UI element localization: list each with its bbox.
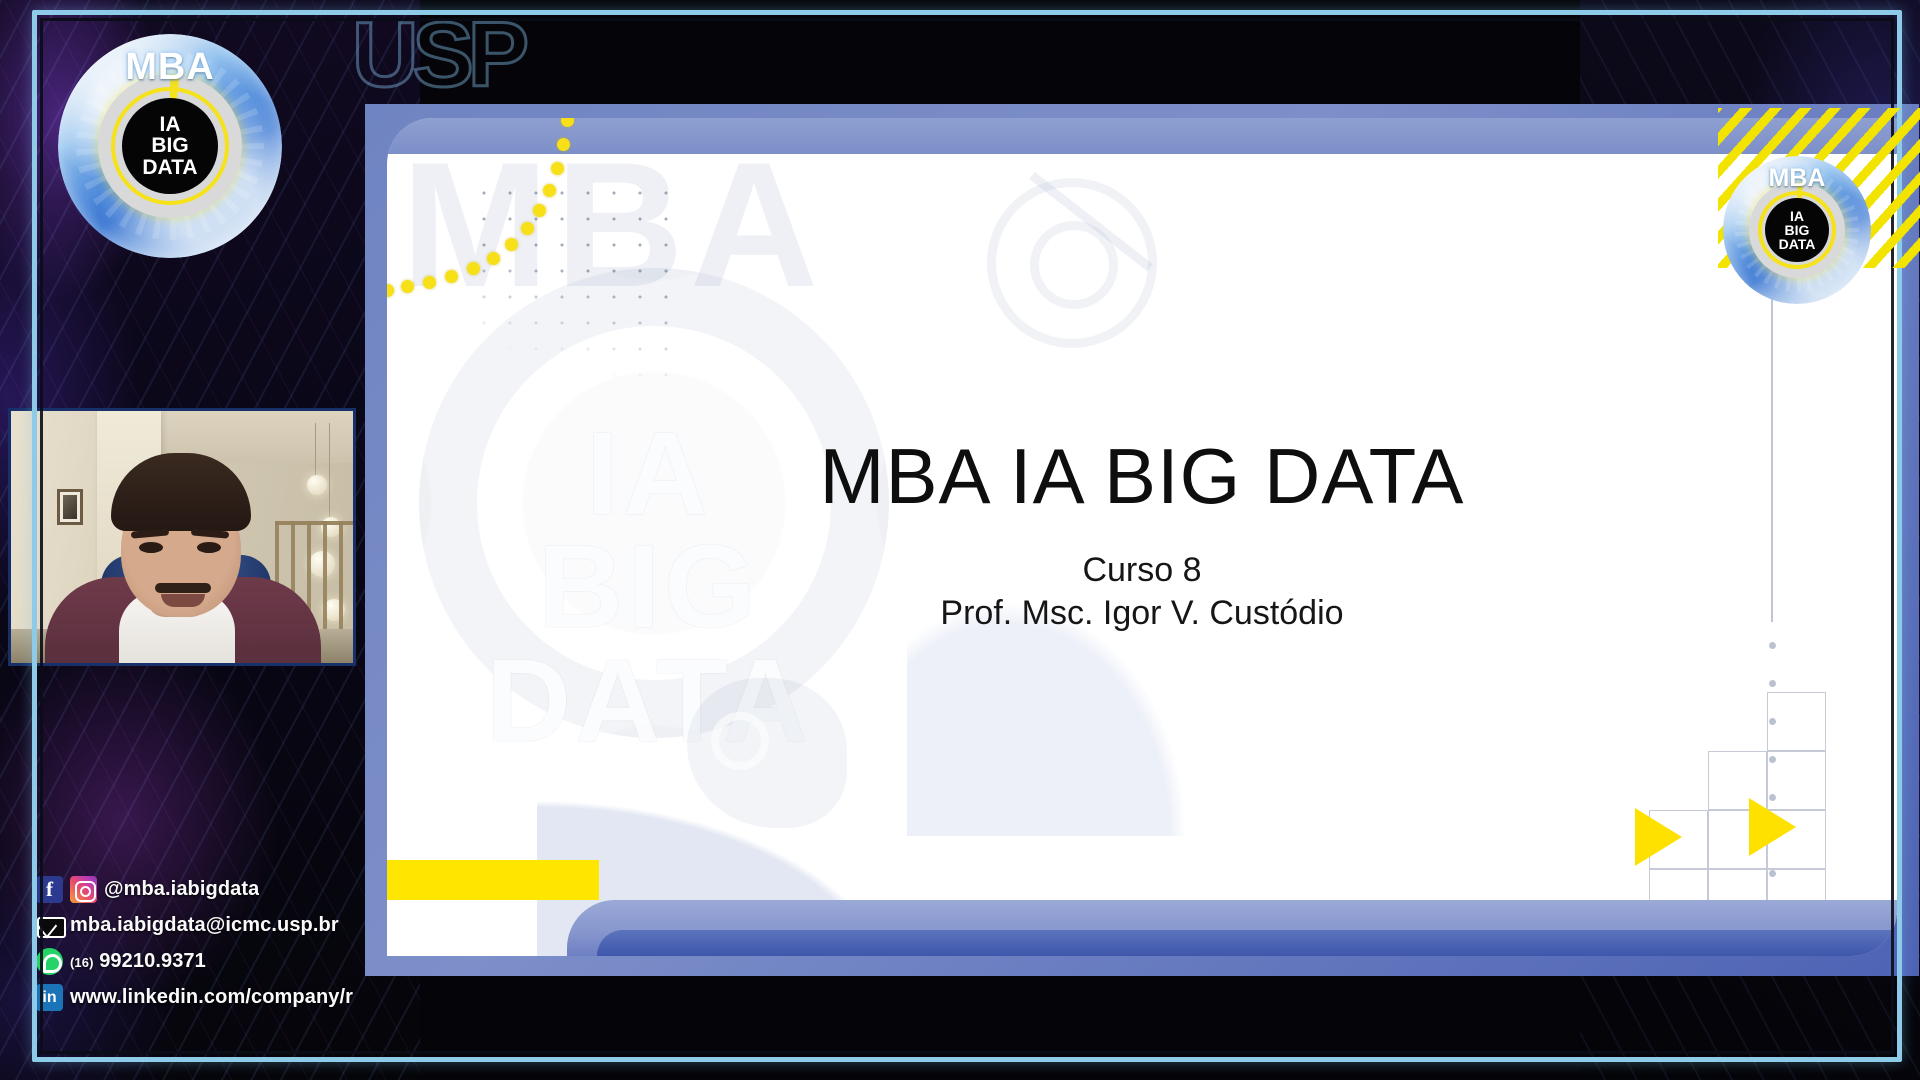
contact-row-linkedin[interactable]: in www.linkedin.com/company/r bbox=[36, 984, 356, 1011]
yellow-dotted-curve bbox=[387, 118, 687, 428]
contact-phone-number: 99210.9371 bbox=[99, 950, 206, 972]
linkedin-icon[interactable]: in bbox=[36, 984, 63, 1011]
yellow-dot bbox=[467, 262, 480, 275]
watermark-target-icon bbox=[987, 178, 1157, 348]
logo-core-line3: DATA bbox=[1779, 237, 1816, 251]
logo-core-line2: BIG bbox=[151, 135, 188, 156]
slide-title-block: MBA IA BIG DATA Curso 8 Prof. Msc. Igor … bbox=[387, 436, 1897, 634]
video-person-eye bbox=[139, 542, 163, 553]
yellow-dot bbox=[387, 284, 394, 297]
play-triangle-icon bbox=[1749, 798, 1796, 856]
video-lamp-wire bbox=[329, 423, 330, 519]
contact-row-social[interactable]: f @mba.iabigdata bbox=[36, 876, 356, 903]
video-person-mouth bbox=[161, 594, 205, 607]
video-person-eye bbox=[197, 542, 221, 553]
yellow-dot bbox=[423, 276, 436, 289]
whatsapp-icon[interactable] bbox=[36, 948, 63, 975]
watermark-data: DATA bbox=[449, 645, 849, 758]
slide-subtitle-course: Curso 8 bbox=[387, 549, 1897, 592]
video-person-moustache bbox=[155, 583, 211, 593]
play-triangle-icon bbox=[1635, 808, 1682, 866]
staircase-grid-decoration bbox=[1649, 692, 1827, 870]
yellow-dot bbox=[445, 270, 458, 283]
logo-mba-label: MBA bbox=[1723, 164, 1871, 193]
contact-social-handle: @mba.iabigdata bbox=[104, 878, 259, 901]
logo-core-line3: DATA bbox=[142, 157, 197, 178]
yellow-dot bbox=[557, 138, 570, 151]
contact-info-block: f @mba.iabigdata mba.iabigdata@icmc.usp.… bbox=[36, 876, 356, 1011]
yellow-dot bbox=[521, 222, 534, 235]
video-picture-frame bbox=[57, 489, 83, 525]
yellow-dot bbox=[505, 238, 518, 251]
yellow-dot bbox=[487, 252, 500, 265]
video-pendant-lamp bbox=[307, 475, 327, 495]
instagram-icon[interactable] bbox=[70, 876, 97, 903]
participant-video-tile[interactable] bbox=[8, 408, 356, 666]
vertical-dot bbox=[1769, 642, 1776, 649]
logo-core: IA BIG DATA bbox=[122, 98, 218, 194]
yellow-dot bbox=[551, 162, 564, 175]
email-icon[interactable] bbox=[36, 912, 63, 939]
usp-watermark: USP bbox=[352, 16, 567, 98]
contact-row-email[interactable]: mba.iabigdata@icmc.usp.br bbox=[36, 912, 356, 939]
contact-row-whatsapp[interactable]: (16) 99210.9371 bbox=[36, 948, 356, 975]
logo-core: IA BIG DATA bbox=[1765, 198, 1829, 262]
vertical-dot bbox=[1769, 680, 1776, 687]
mba-logo-main: IA BIG DATA MBA bbox=[58, 34, 282, 258]
contact-phone-area-code: (16) bbox=[70, 955, 94, 970]
stair-cell bbox=[1767, 692, 1826, 751]
video-lamp-wire bbox=[315, 423, 316, 477]
slide-subtitle-professor: Prof. Msc. Igor V. Custódio bbox=[387, 592, 1897, 635]
logo-core-line2: BIG bbox=[1785, 223, 1810, 237]
contact-linkedin-url: www.linkedin.com/company/r bbox=[70, 986, 353, 1009]
screen-root: USP MBA IA BIG DATA bbox=[0, 0, 1920, 1080]
logo-mba-label: MBA bbox=[58, 46, 282, 89]
yellow-accent-bar bbox=[387, 860, 599, 900]
slide-title: MBA IA BIG DATA bbox=[387, 436, 1897, 517]
yellow-dot bbox=[401, 280, 414, 293]
presentation-slide[interactable]: MBA IA BIG DATA MBA IA BIG DATA bbox=[365, 104, 1919, 976]
facebook-icon[interactable]: f bbox=[36, 876, 63, 903]
yellow-dot bbox=[561, 118, 574, 127]
slide-subtitle: Curso 8 Prof. Msc. Igor V. Custódio bbox=[387, 549, 1897, 634]
yellow-dot bbox=[533, 204, 546, 217]
logo-core-line1: IA bbox=[160, 114, 181, 135]
mba-logo-corner: IA BIG DATA MBA bbox=[1723, 156, 1871, 304]
slide-page: MBA IA BIG DATA MBA IA BIG DATA bbox=[387, 118, 1897, 956]
yellow-dot bbox=[543, 184, 556, 197]
slide-bottom-band-dark bbox=[597, 930, 1897, 956]
logo-core-line1: IA bbox=[1790, 209, 1804, 223]
contact-email: mba.iabigdata@icmc.usp.br bbox=[70, 914, 339, 937]
contact-phone: (16) 99210.9371 bbox=[70, 950, 206, 973]
